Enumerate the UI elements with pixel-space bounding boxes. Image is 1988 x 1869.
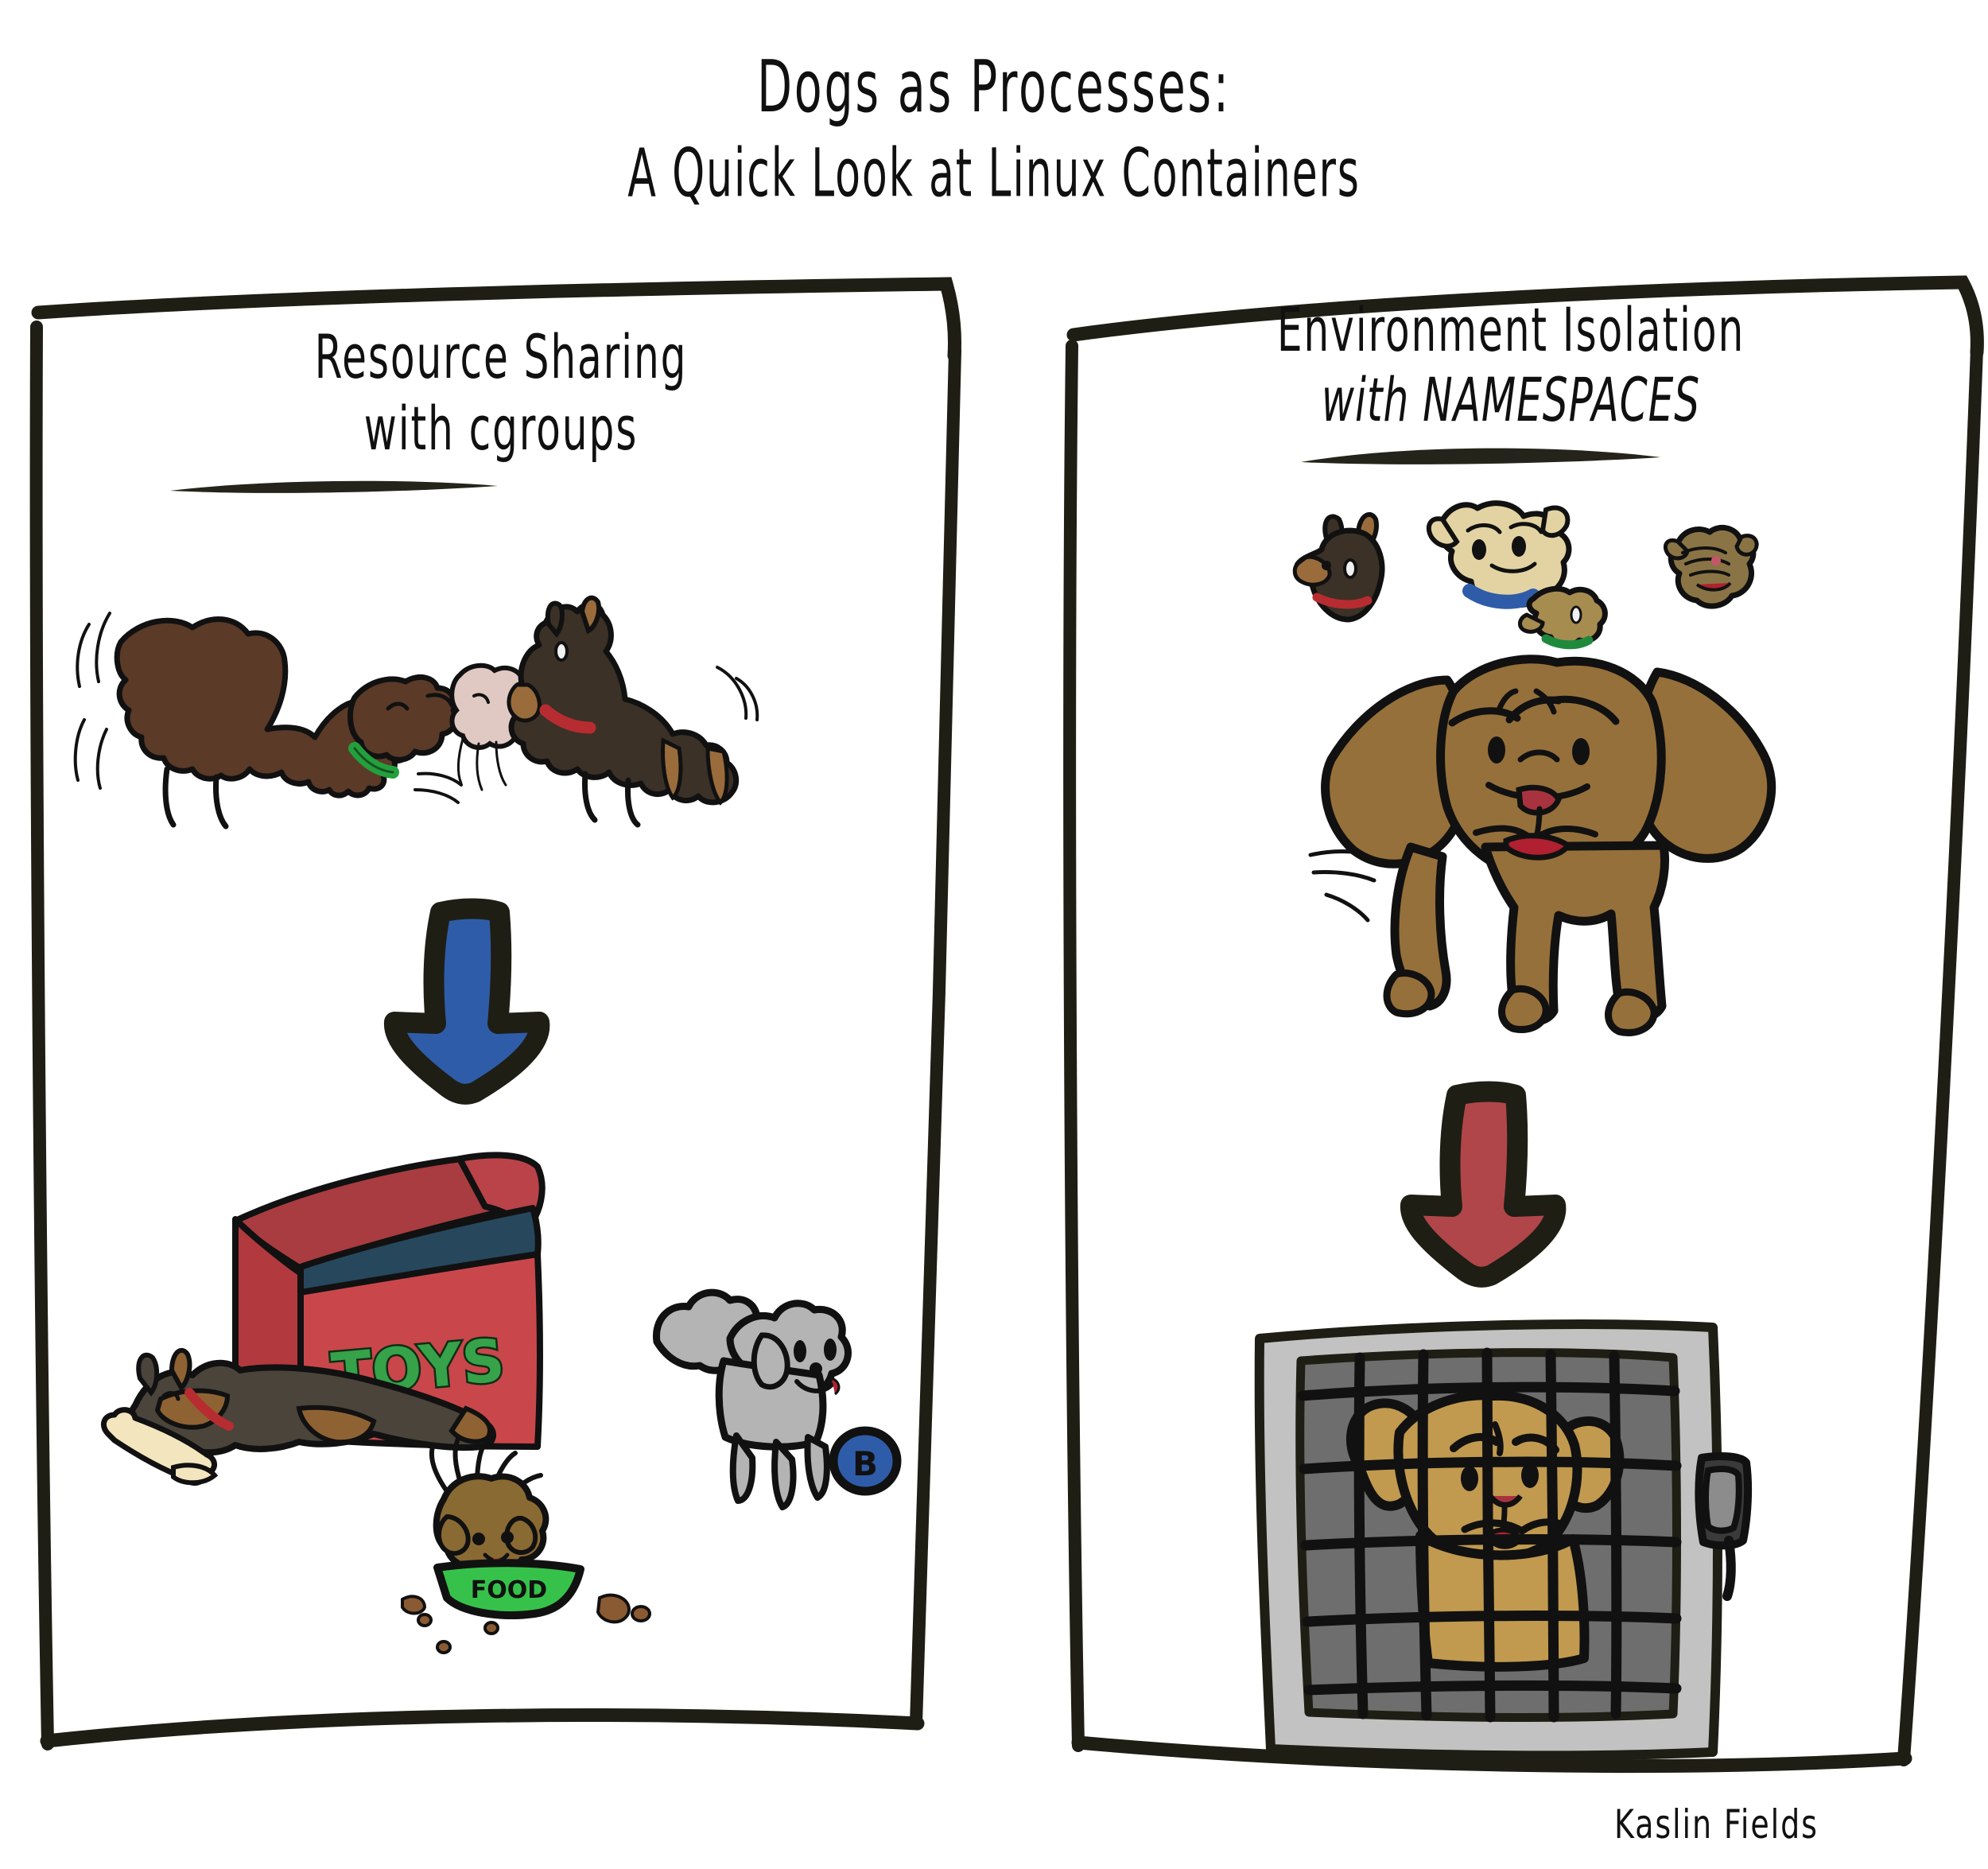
panel-right-heading-line-1: Environment Isolation	[1119, 295, 1903, 365]
chocolate-lab-dog	[117, 620, 456, 826]
food-bowl: FOOD	[437, 1563, 580, 1615]
panel-left-heading-line-2: with cgroups	[64, 394, 937, 464]
panel-right-heading-underline	[1298, 441, 1664, 467]
tug-of-war-scene	[72, 593, 604, 823]
wrinkly-dog-head	[1665, 527, 1757, 606]
doberman-head	[1295, 515, 1382, 620]
panel-resource-sharing: Resource Sharing with cgroups	[32, 282, 970, 1785]
blue-ball: B	[833, 1431, 897, 1491]
small-tan-head	[1520, 589, 1605, 645]
title-line-2: A Quick Look at Linux Containers	[99, 134, 1889, 212]
down-arrow-red	[1400, 1086, 1567, 1284]
shared-resources-scene: TOYS	[87, 1125, 899, 1618]
panel-environment-isolation: Environment Isolation with NAMESPACES	[1066, 282, 1988, 1785]
crate-scene	[1248, 1316, 1757, 1762]
panel-right-heading-line-2: with NAMESPACES	[1119, 365, 1903, 435]
panel-left-heading-line-1: Resource Sharing	[64, 322, 937, 392]
blue-ball-label: B	[852, 1444, 878, 1483]
panel-left-heading-underline	[167, 473, 501, 497]
food-bowl-label: FOOD	[471, 1576, 547, 1604]
comic-canvas: Dogs as Processes: A Quick Look at Linux…	[0, 0, 1988, 1869]
distracted-dog-heads	[1280, 505, 1757, 648]
artist-signature: Kaslin Fields	[1614, 1802, 1819, 1848]
angry-brown-dog	[1304, 656, 1797, 1038]
comic-title: Dogs as Processes:	[0, 48, 1988, 102]
title-line-1: Dogs as Processes:	[80, 48, 1908, 126]
poodle-dog	[656, 1292, 848, 1507]
down-arrow-blue	[383, 903, 550, 1102]
